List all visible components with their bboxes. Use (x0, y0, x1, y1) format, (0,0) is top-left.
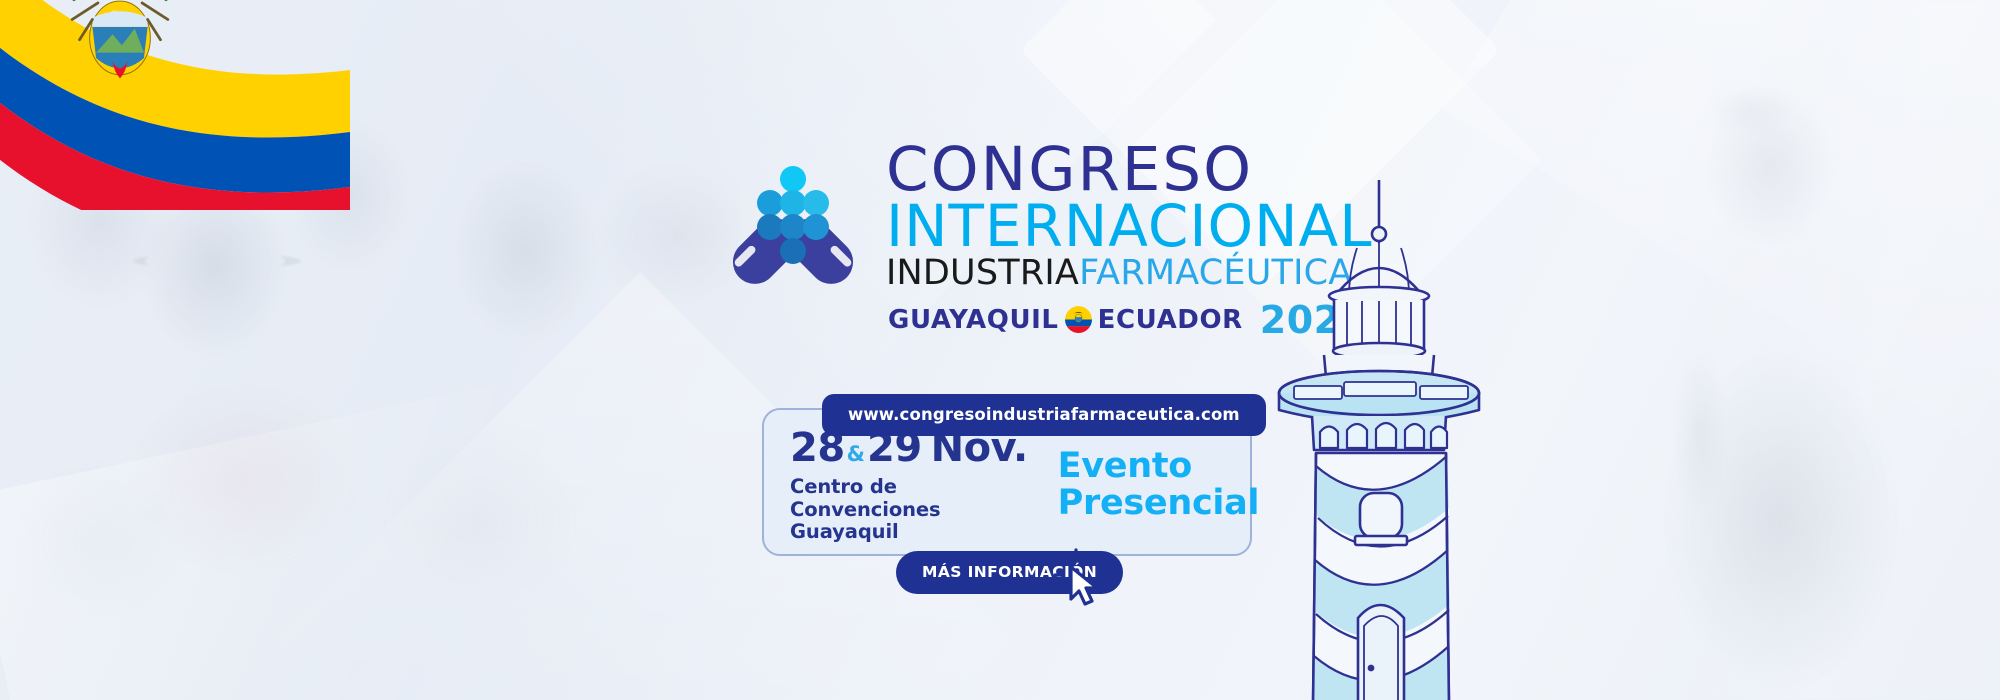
logo-city: GUAYAQUIL (888, 305, 1059, 335)
background-shape (1443, 0, 2000, 437)
ecuador-flag-badge-icon (1065, 306, 1092, 333)
ecuador-flag-ribbon (0, 0, 350, 210)
pills-dots-logo-icon (718, 152, 868, 292)
mas-informacion-button[interactable]: MÁS INFORMACIÓN (896, 551, 1123, 594)
logo-country: ECUADOR (1098, 305, 1243, 335)
congress-logo: CONGRESO INTERNACIONAL INDUSTRIAFARMACÉU… (718, 140, 1373, 339)
event-day-separator: & (847, 444, 865, 465)
logo-word-farmaceutica: FARMACÉUTICA (1079, 253, 1352, 293)
event-venue: Centro de Convenciones Guayaquil (790, 476, 1028, 544)
logo-location-row: GUAYAQUIL ECUADOR 2025 (888, 301, 1373, 339)
logo-line-internacional: INTERNACIONAL (886, 197, 1373, 255)
cta-area: MÁS INFORMACIÓN (896, 551, 1123, 594)
event-venue-line2: Guayaquil (790, 521, 1028, 544)
background-shape (0, 372, 633, 700)
logo-line-congreso: CONGRESO (886, 140, 1373, 199)
event-modality: Evento Presencial (1058, 448, 1260, 522)
event-venue-line1: Centro de Convenciones (790, 476, 1028, 522)
logo-word-industria: INDUSTRIA (886, 253, 1079, 293)
event-modality-line1: Evento (1058, 448, 1260, 485)
speaker-with-microphone-photo (1450, 0, 2000, 700)
website-url-banner[interactable]: www.congresoindustriafarmaceutica.com (822, 394, 1266, 436)
logo-year: 2025 (1260, 301, 1368, 339)
audience-applauding-photo (0, 20, 740, 700)
logo-line-industria-farmaceutica: INDUSTRIAFARMACÉUTICA (886, 255, 1373, 292)
event-modality-line2: Presencial (1058, 485, 1260, 522)
hero-banner: CONGRESO INTERNACIONAL INDUSTRIAFARMACÉU… (0, 0, 2000, 700)
